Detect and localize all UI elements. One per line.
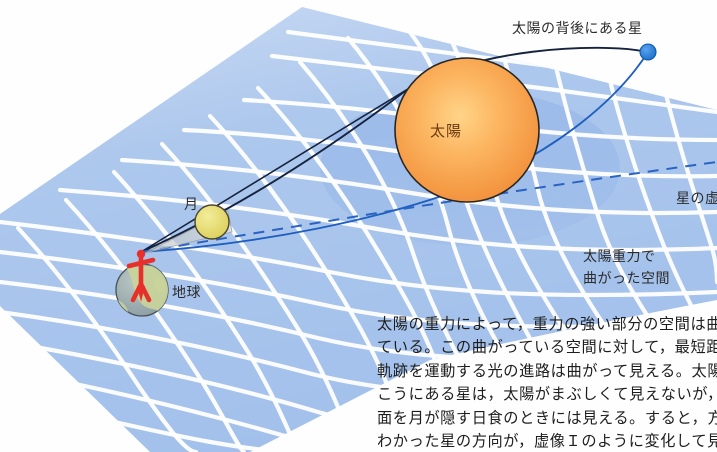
label-earth: 地球 — [172, 282, 201, 302]
sun — [395, 58, 539, 202]
caption-line: 太陽の重力によって，重力の強い部分の空間は曲 — [377, 313, 717, 336]
label-virtual-image: 星の虚 — [676, 188, 717, 208]
label-background-star: 太陽の背後にある星 — [512, 18, 643, 38]
caption-paragraph: 太陽の重力によって，重力の強い部分の空間は曲 ている。この曲がっている空間に対し… — [377, 313, 717, 452]
caption-line: わかった星の方向が，虚像Ｉのように変化して見 — [377, 430, 717, 452]
background-star-dot — [640, 44, 656, 60]
label-sun: 太陽 — [430, 120, 462, 141]
caption-line: ている。この曲がっている空間に対して，最短距 — [377, 336, 717, 359]
label-curved-space-line2: 曲がった空間 — [583, 268, 670, 288]
label-curved-space-line1: 太陽重力で — [583, 246, 656, 266]
caption-line: 軌跡を運動する光の進路は曲がって見える。太陽 — [377, 360, 717, 383]
caption-line: 面を月が隠す日食のときには見える。すると，方 — [377, 407, 717, 430]
moon — [195, 205, 229, 239]
figure-root: 太陽の背後にある星 太陽 月 地球 星の虚 太陽重力で 曲がった空間 太陽の重力… — [0, 0, 717, 452]
caption-line: こうにある星は，太陽がまぶしくて見えないが， — [377, 383, 717, 406]
label-moon: 月 — [184, 194, 199, 214]
